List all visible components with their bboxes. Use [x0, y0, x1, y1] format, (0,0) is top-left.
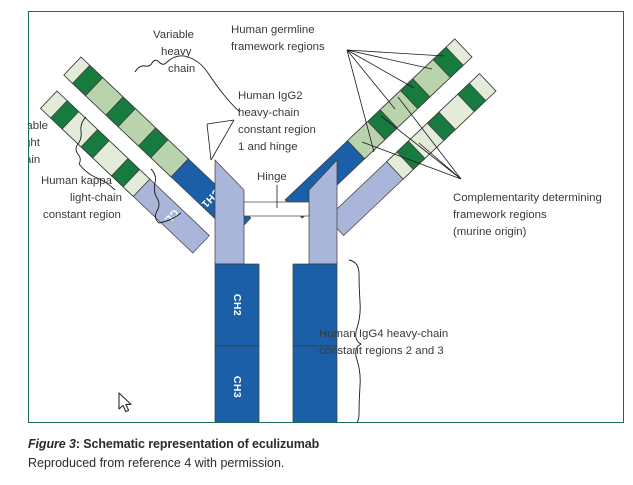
human-germline-label: Human germline framework regions — [231, 24, 325, 53]
cdr-line-1: Complementarity determining — [453, 192, 602, 204]
left-hinge-wedge — [215, 160, 244, 264]
cdr-line-3: (murine origin) — [453, 226, 527, 238]
human-kappa-label: Human kappa light-chain constant region — [41, 175, 122, 221]
hinge-connector — [244, 202, 309, 216]
kappa-line-1: Human kappa — [41, 175, 113, 187]
variable-heavy-chain-label: Variable heavy chain — [153, 29, 195, 75]
variable-light-chain-label: Variable light chain — [29, 120, 48, 166]
figure-panel: CH1 CL — [28, 11, 624, 423]
igg4-line-1: Human IgG4 heavy-chain — [319, 328, 448, 340]
fc-stem-left: CH2 CH3 — [215, 264, 259, 422]
cdr-line-2: framework regions — [453, 209, 547, 221]
vh-line-3: chain — [168, 63, 195, 75]
vl-line-1: Variable — [29, 120, 48, 132]
figure-caption-text: : Schematic representation of eculizumab — [76, 437, 319, 451]
vl-line-3: chain — [29, 154, 40, 166]
figure-caption-subtitle: Reproduced from reference 4 with permiss… — [28, 456, 284, 470]
igg2-line-4: 1 and hinge — [238, 141, 298, 153]
complementarity-label: Complementarity determining framework re… — [453, 192, 602, 238]
vh-line-1: Variable — [153, 29, 194, 41]
mouse-cursor — [118, 392, 134, 414]
igg4-line-2: constant regions 2 and 3 — [319, 345, 444, 357]
igg2-line-1: Human IgG2 — [238, 90, 303, 102]
human-igg4-brace — [349, 260, 361, 422]
ch3-label: CH3 — [231, 376, 243, 398]
human-igg4-label: Human IgG4 heavy-chain constant regions … — [319, 328, 448, 357]
human-igg2-label: Human IgG2 heavy-chain constant region 1… — [238, 90, 316, 153]
figure-caption-title: Figure 3: Schematic representation of ec… — [28, 437, 319, 451]
fc-stem-right — [293, 264, 337, 422]
kappa-line-3: constant region — [43, 209, 121, 221]
antibody-schematic-diagram: CH1 CL — [29, 12, 623, 422]
kappa-line-2: light-chain — [70, 192, 122, 204]
vh-line-2: heavy — [161, 46, 192, 58]
figure-number: Figure 3 — [28, 437, 76, 451]
hinge-label: Hinge — [257, 171, 287, 183]
ch2-label: CH2 — [231, 294, 243, 316]
germline-line-1: Human germline — [231, 24, 315, 36]
germline-line-2: framework regions — [231, 41, 325, 53]
igg2-leader-line — [207, 120, 234, 160]
igg2-line-3: constant region — [238, 124, 316, 136]
igg2-line-2: heavy-chain — [238, 107, 299, 119]
vl-line-2: light — [29, 137, 41, 149]
